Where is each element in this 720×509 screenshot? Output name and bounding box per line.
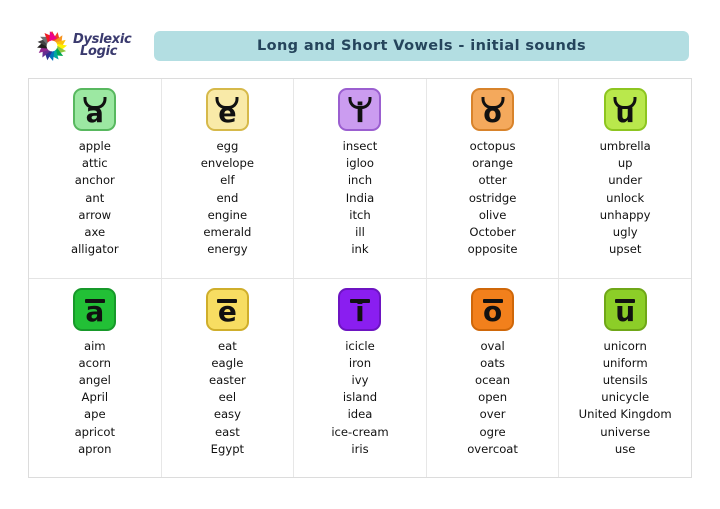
vowel-cell-short-u: uumbrellaupunderunlockunhappyuglyupset: [559, 79, 691, 278]
word-item: ostridge: [469, 190, 517, 207]
vowel-row-long: aaimacornangelAprilapeapricotaproneeatea…: [29, 279, 691, 478]
brand-logo: Dyslexic Logic: [33, 27, 145, 65]
vowel-cell-long-i: iicicleironivyislandideaice-creamiris: [294, 279, 427, 478]
word-item: east: [215, 424, 240, 441]
word-item: igloo: [346, 155, 374, 172]
word-item: eagle: [211, 355, 243, 372]
vowel-letter: o: [483, 298, 502, 326]
word-list-long-o: ovaloatsoceanopenoverogreovercoat: [427, 338, 559, 458]
vowel-cell-long-e: eeateagleeastereeleasyeastEgypt: [162, 279, 295, 478]
word-item: acorn: [79, 355, 111, 372]
word-list-long-e: eateagleeastereeleasyeastEgypt: [162, 338, 294, 458]
word-item: oats: [480, 355, 505, 372]
word-item: itch: [349, 207, 371, 224]
page-header: Dyslexic Logic Long and Short Vowels - i…: [0, 24, 720, 68]
word-item: ugly: [613, 224, 638, 241]
page-title: Long and Short Vowels - initial sounds: [257, 38, 586, 54]
word-item: alligator: [71, 241, 119, 258]
word-item: easy: [214, 406, 241, 423]
word-item: angel: [79, 372, 111, 389]
word-item: apricot: [75, 424, 115, 441]
word-item: anchor: [75, 172, 115, 189]
word-item: ink: [351, 241, 368, 258]
word-item: umbrella: [600, 138, 651, 155]
word-item: April: [82, 389, 109, 406]
brand-wordmark: Dyslexic Logic: [73, 34, 131, 59]
word-item: elf: [220, 172, 234, 189]
word-item: ogre: [480, 424, 506, 441]
vowel-letter: i: [355, 298, 365, 326]
word-item: over: [480, 406, 506, 423]
word-item: icicle: [345, 338, 375, 355]
vowel-tile-short-e[interactable]: e: [206, 88, 249, 131]
word-item: iron: [349, 355, 371, 372]
vowel-letter: e: [218, 100, 236, 127]
word-list-short-o: octopusorangeotterostridgeoliveOctoberop…: [427, 138, 559, 258]
vowel-tile-long-i[interactable]: i: [338, 288, 381, 331]
word-list-short-e: eggenvelopeelfendengineemeraldenergy: [162, 138, 294, 258]
word-item: apron: [78, 441, 111, 458]
vowel-cell-short-i: iinsectiglooinchIndiaitchillink: [294, 79, 427, 278]
word-item: insect: [343, 138, 378, 155]
word-item: easter: [209, 372, 246, 389]
word-item: aim: [84, 338, 106, 355]
word-item: oval: [480, 338, 504, 355]
word-item: utensils: [603, 372, 648, 389]
word-item: octopus: [470, 138, 516, 155]
word-item: axe: [84, 224, 105, 241]
page-title-bar: Long and Short Vowels - initial sounds: [154, 31, 689, 61]
vowel-cell-long-a: aaimacornangelAprilapeapricotapron: [29, 279, 162, 478]
vowel-tile-long-o[interactable]: o: [471, 288, 514, 331]
word-item: up: [618, 155, 633, 172]
word-item: October: [469, 224, 515, 241]
word-item: uniform: [603, 355, 648, 372]
word-item: energy: [207, 241, 247, 258]
word-item: orange: [472, 155, 513, 172]
word-item: end: [216, 190, 238, 207]
vowel-letter: u: [616, 100, 635, 127]
word-item: ant: [85, 190, 104, 207]
word-item: envelope: [201, 155, 254, 172]
word-item: engine: [208, 207, 248, 224]
word-item: otter: [479, 172, 507, 189]
vowel-tile-long-e[interactable]: e: [206, 288, 249, 331]
vowel-letter: i: [355, 100, 364, 127]
vowel-cell-short-o: ooctopusorangeotterostridgeoliveOctobero…: [427, 79, 560, 278]
word-list-long-a: aimacornangelAprilapeapricotapron: [29, 338, 161, 458]
word-item: eat: [218, 338, 237, 355]
word-item: upset: [609, 241, 641, 258]
word-list-long-i: icicleironivyislandideaice-creamiris: [294, 338, 426, 458]
word-list-long-u: unicornuniformutensilsunicycleUnited Kin…: [559, 338, 691, 458]
word-item: unlock: [606, 190, 644, 207]
vowel-cell-long-u: uunicornuniformutensilsunicycleUnited Ki…: [559, 279, 691, 478]
word-item: India: [346, 190, 374, 207]
word-item: opposite: [468, 241, 518, 258]
vowel-tile-short-u[interactable]: u: [604, 88, 647, 131]
brand-line-2: Logic: [80, 46, 131, 58]
word-item: eel: [219, 389, 237, 406]
word-item: Egypt: [211, 441, 244, 458]
vowel-tile-short-i[interactable]: i: [338, 88, 381, 131]
word-item: emerald: [203, 224, 251, 241]
word-list-short-a: appleatticanchorantarrowaxealligator: [29, 138, 161, 258]
vowel-table: aappleatticanchorantarrowaxealligatoreeg…: [28, 78, 692, 478]
word-item: unicorn: [604, 338, 647, 355]
vowel-tile-long-u[interactable]: u: [604, 288, 647, 331]
vowel-letter: a: [86, 100, 104, 127]
vowel-tile-long-a[interactable]: a: [73, 288, 116, 331]
word-item: idea: [348, 406, 373, 423]
word-list-short-i: insectiglooinchIndiaitchillink: [294, 138, 426, 258]
word-item: inch: [348, 172, 372, 189]
vowel-letter: u: [615, 298, 635, 326]
word-item: apple: [79, 138, 111, 155]
vowel-cell-long-o: oovaloatsoceanopenoverogreovercoat: [427, 279, 560, 478]
word-item: universe: [600, 424, 650, 441]
vowel-tile-short-o[interactable]: o: [471, 88, 514, 131]
word-item: ocean: [475, 372, 510, 389]
word-item: iris: [351, 441, 368, 458]
word-item: egg: [216, 138, 238, 155]
rainbow-pinwheel-icon: [33, 27, 71, 65]
word-item: under: [608, 172, 642, 189]
word-item: olive: [479, 207, 507, 224]
word-item: island: [343, 389, 377, 406]
word-item: attic: [82, 155, 108, 172]
vowel-letter: o: [483, 100, 502, 127]
word-item: United Kingdom: [579, 406, 672, 423]
word-item: open: [478, 389, 507, 406]
vowel-row-short: aappleatticanchorantarrowaxealligatoreeg…: [29, 79, 691, 279]
word-item: unicycle: [601, 389, 649, 406]
word-item: ape: [84, 406, 106, 423]
word-item: use: [615, 441, 636, 458]
word-item: ill: [355, 224, 365, 241]
vowel-letter: a: [85, 298, 104, 326]
word-item: ice-cream: [331, 424, 388, 441]
word-list-short-u: umbrellaupunderunlockunhappyuglyupset: [559, 138, 691, 258]
word-item: arrow: [78, 207, 111, 224]
word-item: ivy: [352, 372, 369, 389]
vowel-cell-short-a: aappleatticanchorantarrowaxealligator: [29, 79, 162, 278]
vowel-letter: e: [218, 298, 237, 326]
word-item: unhappy: [600, 207, 651, 224]
word-item: overcoat: [467, 441, 518, 458]
vowel-cell-short-e: eeggenvelopeelfendengineemeraldenergy: [162, 79, 295, 278]
vowel-tile-short-a[interactable]: a: [73, 88, 116, 131]
